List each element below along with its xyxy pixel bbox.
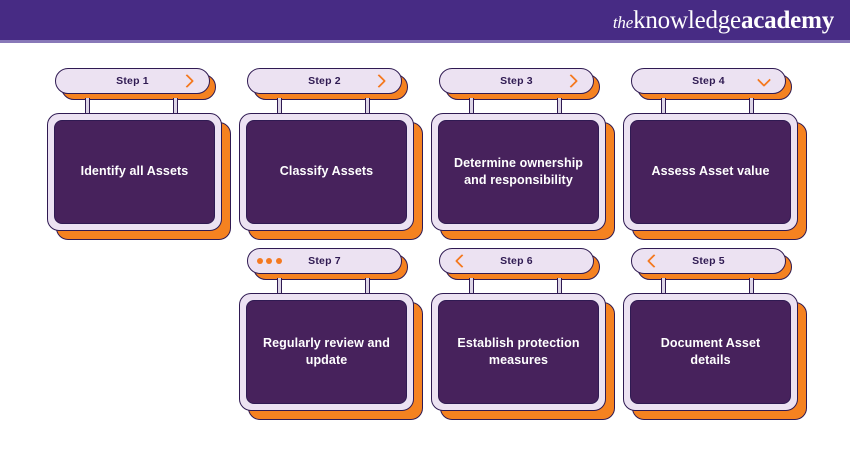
step-pill[interactable]: Step 2 bbox=[247, 68, 411, 102]
step-card-text: Assess Asset value bbox=[651, 163, 769, 180]
step-card[interactable]: Regularly review and update bbox=[239, 293, 431, 423]
step-pill[interactable]: Step 5 bbox=[631, 248, 795, 282]
step-group: Step 3Determine ownership and responsibi… bbox=[431, 68, 623, 243]
step-group: Step 5Document Asset details bbox=[623, 248, 815, 423]
step-pill-label: Step 5 bbox=[692, 256, 725, 267]
step-pill[interactable]: Step 4 bbox=[631, 68, 795, 102]
step-card-text: Establish protection measures bbox=[448, 335, 589, 370]
step-card[interactable]: Determine ownership and responsibility bbox=[431, 113, 623, 243]
step-pill[interactable]: Step 6 bbox=[439, 248, 603, 282]
step-card-text: Classify Assets bbox=[280, 163, 373, 180]
step-card-inner: Regularly review and update bbox=[246, 300, 407, 404]
step-card-text: Identify all Assets bbox=[81, 163, 189, 180]
step-card-inner: Assess Asset value bbox=[630, 120, 791, 224]
step-pill[interactable]: Step 1 bbox=[55, 68, 219, 102]
step-card-frame: Classify Assets bbox=[239, 113, 414, 231]
step-card-inner: Document Asset details bbox=[630, 300, 791, 404]
step-card-text: Document Asset details bbox=[640, 335, 781, 370]
step-card-inner: Determine ownership and responsibility bbox=[438, 120, 599, 224]
step-card[interactable]: Classify Assets bbox=[239, 113, 431, 243]
step-pill-body[interactable]: Step 2 bbox=[247, 68, 402, 94]
step-pill-body[interactable]: Step 1 bbox=[55, 68, 210, 94]
step-pill-body[interactable]: Step 6 bbox=[439, 248, 594, 274]
step-group: Step 2Classify Assets bbox=[239, 68, 431, 243]
logo-knowledge: knowledge bbox=[633, 7, 741, 34]
logo-the: the bbox=[613, 13, 633, 32]
chevron-left-icon[interactable] bbox=[636, 249, 670, 273]
step-card-frame: Assess Asset value bbox=[623, 113, 798, 231]
step-card-frame: Establish protection measures bbox=[431, 293, 606, 411]
chevron-right-icon[interactable] bbox=[171, 69, 205, 93]
step-pill-label: Step 2 bbox=[308, 76, 341, 87]
step-pill-label: Step 1 bbox=[116, 76, 149, 87]
step-card-frame: Regularly review and update bbox=[239, 293, 414, 411]
step-card[interactable]: Identify all Assets bbox=[47, 113, 239, 243]
step-pill-body[interactable]: Step 3 bbox=[439, 68, 594, 94]
step-card-frame: Determine ownership and responsibility bbox=[431, 113, 606, 231]
step-card-text: Regularly review and update bbox=[256, 335, 397, 370]
step-card[interactable]: Assess Asset value bbox=[623, 113, 815, 243]
step-pill[interactable]: Step 3 bbox=[439, 68, 603, 102]
step-pill-label: Step 7 bbox=[308, 256, 341, 267]
step-pill-body[interactable]: Step 7 bbox=[247, 248, 402, 274]
step-pill[interactable]: Step 7 bbox=[247, 248, 411, 282]
step-pill-label: Step 6 bbox=[500, 256, 533, 267]
step-pill-body[interactable]: Step 5 bbox=[631, 248, 786, 274]
step-card-inner: Identify all Assets bbox=[54, 120, 215, 224]
step-card-frame: Identify all Assets bbox=[47, 113, 222, 231]
step-group: Step 4Assess Asset value bbox=[623, 68, 815, 243]
step-group: Step 1Identify all Assets bbox=[47, 68, 239, 243]
chevron-right-icon[interactable] bbox=[363, 69, 397, 93]
step-group: Step 7Regularly review and update bbox=[239, 248, 431, 423]
step-card-inner: Establish protection measures bbox=[438, 300, 599, 404]
chevron-right-icon[interactable] bbox=[555, 69, 589, 93]
step-pill-label: Step 4 bbox=[692, 76, 725, 87]
brand-logo: theknowledgeacademy bbox=[613, 6, 834, 36]
step-pill-body[interactable]: Step 4 bbox=[631, 68, 786, 94]
step-group: Step 6Establish protection measures bbox=[431, 248, 623, 423]
three-dots-icon[interactable] bbox=[252, 249, 286, 273]
chevron-left-icon[interactable] bbox=[444, 249, 478, 273]
step-card-frame: Document Asset details bbox=[623, 293, 798, 411]
step-card-text: Determine ownership and responsibility bbox=[448, 155, 589, 190]
step-pill-label: Step 3 bbox=[500, 76, 533, 87]
step-card[interactable]: Establish protection measures bbox=[431, 293, 623, 423]
chevron-down-icon[interactable] bbox=[747, 69, 781, 93]
process-diagram: Step 1Identify all AssetsStep 2Classify … bbox=[0, 43, 850, 450]
step-card-inner: Classify Assets bbox=[246, 120, 407, 224]
step-card[interactable]: Document Asset details bbox=[623, 293, 815, 423]
logo-academy: academy bbox=[741, 7, 834, 34]
